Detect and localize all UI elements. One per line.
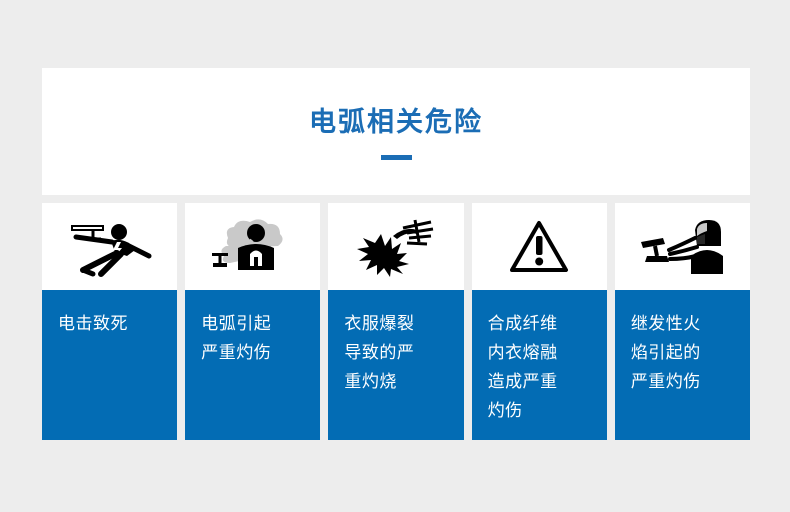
hazard-card-row: 电击致死 (42, 203, 750, 440)
warning-triangle-icon (509, 218, 569, 276)
explosion-blast-icon (353, 216, 439, 278)
card-icon-slot (472, 203, 607, 290)
hazard-card[interactable]: 电击致死 (42, 203, 177, 440)
hazard-card[interactable]: 电弧引起严重灼伤 (185, 203, 320, 440)
hazard-card-label: 继发性火焰引起的严重灼伤 (615, 290, 750, 440)
welder-flash-icon (639, 216, 725, 278)
card-icon-slot (42, 203, 177, 290)
electrocution-icon (67, 216, 153, 278)
page-title: 电弧相关危险 (309, 109, 483, 136)
card-icon-slot (328, 203, 463, 290)
card-icon-slot (615, 203, 750, 290)
hazard-card[interactable]: 继发性火焰引起的严重灼伤 (615, 203, 750, 440)
card-icon-slot (185, 203, 320, 290)
hazard-card-label: 合成纤维内衣熔融造成严重灼伤 (472, 290, 607, 440)
title-underline-bar (381, 155, 412, 160)
arc-flash-person-icon (210, 216, 296, 278)
hazard-card-label: 衣服爆裂导致的严重灼烧 (328, 290, 463, 440)
hazard-card-label: 电弧引起严重灼伤 (185, 290, 320, 440)
poster-root: 电弧相关危险 (0, 0, 790, 512)
hazard-card[interactable]: 衣服爆裂导致的严重灼烧 (328, 203, 463, 440)
hazard-card-label: 电击致死 (42, 290, 177, 440)
header-panel: 电弧相关危险 (42, 68, 750, 195)
hazard-card[interactable]: 合成纤维内衣熔融造成严重灼伤 (472, 203, 607, 440)
